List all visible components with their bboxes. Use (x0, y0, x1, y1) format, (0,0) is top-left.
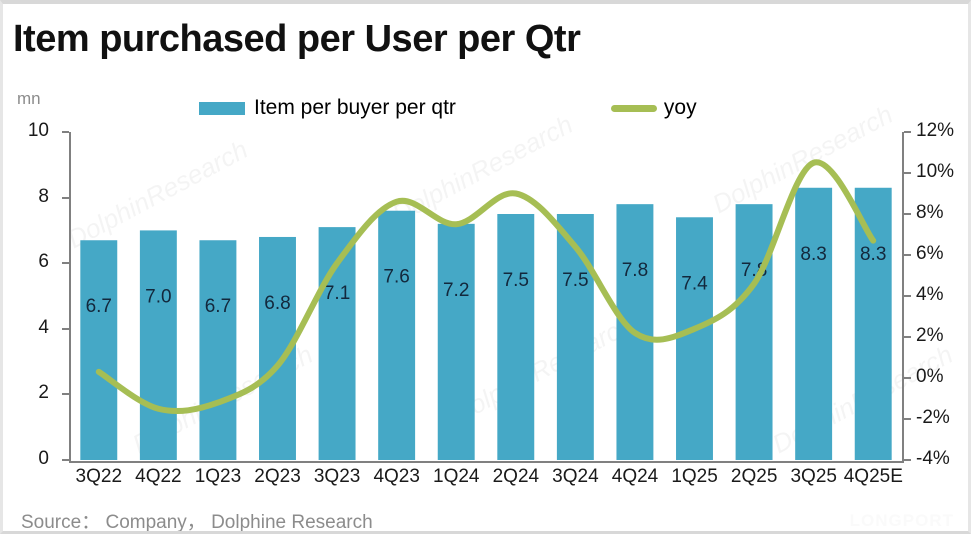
bar-data-label: 7.1 (324, 283, 350, 304)
bar (378, 211, 415, 460)
axis-tick-mark (62, 393, 69, 395)
legend-item-bar[interactable]: Item per buyer per qtr (199, 96, 456, 120)
x-axis-tick-label: 1Q25 (665, 466, 725, 496)
x-axis-tick-label: 2Q25 (724, 466, 784, 496)
x-axis-tick-label: 1Q24 (426, 466, 486, 496)
longport-logo: LONGPORT (850, 511, 954, 531)
y-axis-unit-label: mn (17, 89, 41, 109)
bar (497, 214, 534, 460)
axis-tick-mark (62, 459, 69, 461)
x-axis-tick-label: 1Q23 (188, 466, 248, 496)
bar-data-label: 7.2 (443, 280, 469, 301)
bar-data-label: 8.3 (860, 244, 886, 265)
bar-data-label: 7.5 (562, 270, 588, 291)
axis-tick-mark (904, 418, 911, 420)
axis-tick-mark (62, 328, 69, 330)
bar (795, 188, 832, 460)
page-title: Item purchased per User per Qtr (13, 18, 580, 61)
source-note: Source： Company， Dolphine Research (21, 507, 373, 534)
y-axis-right-tick-label: -4% (916, 448, 950, 470)
bar (676, 217, 713, 460)
y-axis-left-tick-label: 6 (38, 251, 49, 273)
bar-data-label: 6.7 (205, 296, 231, 317)
x-axis-tick-label: 2Q23 (248, 466, 308, 496)
y-axis-right-tick-label: 4% (916, 284, 943, 306)
axis-tick-mark (904, 336, 911, 338)
legend-line-swatch-icon (611, 105, 657, 112)
x-axis-tick-label: 4Q24 (605, 466, 665, 496)
y-axis-right-tick-label: 12% (916, 120, 954, 142)
axis-tick-mark (904, 131, 911, 133)
axis-tick-mark (62, 262, 69, 264)
bar (199, 240, 236, 460)
bar-data-label: 6.7 (86, 296, 112, 317)
bar-data-label: 7.0 (145, 286, 171, 307)
y-axis-left-tick-label: 4 (38, 317, 49, 339)
y-axis-right-tick-label: 6% (916, 243, 943, 265)
legend-item-label: Item per buyer per qtr (254, 96, 456, 120)
chart-page: DolphinResearch DolphinResearch DolphinR… (0, 0, 971, 534)
bar-data-label: 8.3 (800, 244, 826, 265)
x-axis-tick-label: 2Q24 (486, 466, 546, 496)
axis-tick-mark (904, 213, 911, 215)
chart-legend: Item per buyer per qtr yoy (199, 96, 697, 120)
bar-data-label: 7.4 (681, 273, 708, 294)
axis-tick-mark (62, 197, 69, 199)
legend-item-label: yoy (664, 96, 697, 120)
y-axis-left-tick-label: 2 (38, 382, 49, 404)
bar-data-label: 7.5 (503, 270, 529, 291)
x-axis-tick-label: 4Q25E (844, 466, 904, 496)
bar-data-label: 6.8 (264, 293, 290, 314)
y-axis-left-tick-label: 0 (38, 448, 49, 470)
y-axis-right-tick-label: -2% (916, 407, 950, 429)
legend-bar-swatch-icon (199, 102, 245, 115)
bar (736, 204, 773, 460)
bar-data-label: 7.6 (383, 267, 409, 288)
bar-series-group (80, 188, 891, 460)
bar (140, 230, 177, 460)
axis-tick-mark (904, 459, 911, 461)
bar (80, 240, 117, 460)
bar (855, 188, 892, 460)
y-axis-left-line (69, 132, 71, 462)
y-axis-left-tick-label: 8 (38, 186, 49, 208)
bar (438, 224, 475, 460)
x-axis-tick-label: 4Q23 (367, 466, 427, 496)
x-axis-labels: 3Q224Q221Q232Q233Q234Q231Q242Q243Q244Q24… (69, 466, 903, 496)
axis-tick-mark (904, 254, 911, 256)
axis-tick-mark (904, 295, 911, 297)
y-axis-right-tick-label: 0% (916, 366, 943, 388)
bar-data-label: 7.8 (622, 260, 648, 281)
x-axis-tick-label: 3Q22 (69, 466, 129, 496)
y-axis-right-tick-label: 10% (916, 161, 954, 183)
x-axis-tick-label: 4Q22 (129, 466, 189, 496)
x-axis-line (69, 461, 904, 463)
axis-tick-mark (904, 172, 911, 174)
chart-canvas: 6.77.06.76.87.17.67.27.57.57.87.47.88.38… (69, 132, 903, 460)
y-axis-left-tick-label: 10 (28, 120, 49, 142)
y-axis-right-tick-label: 8% (916, 202, 943, 224)
x-axis-tick-label: 3Q24 (546, 466, 606, 496)
x-axis-tick-label: 3Q23 (307, 466, 367, 496)
y-axis-right-line (902, 132, 904, 462)
x-axis-tick-label: 3Q25 (784, 466, 844, 496)
axis-tick-mark (904, 377, 911, 379)
axis-tick-mark (62, 131, 69, 133)
plot-area: 6.77.06.76.87.17.67.27.57.57.87.47.88.38… (69, 132, 903, 460)
y-axis-right-tick-label: 2% (916, 325, 943, 347)
legend-item-line[interactable]: yoy (611, 96, 697, 120)
